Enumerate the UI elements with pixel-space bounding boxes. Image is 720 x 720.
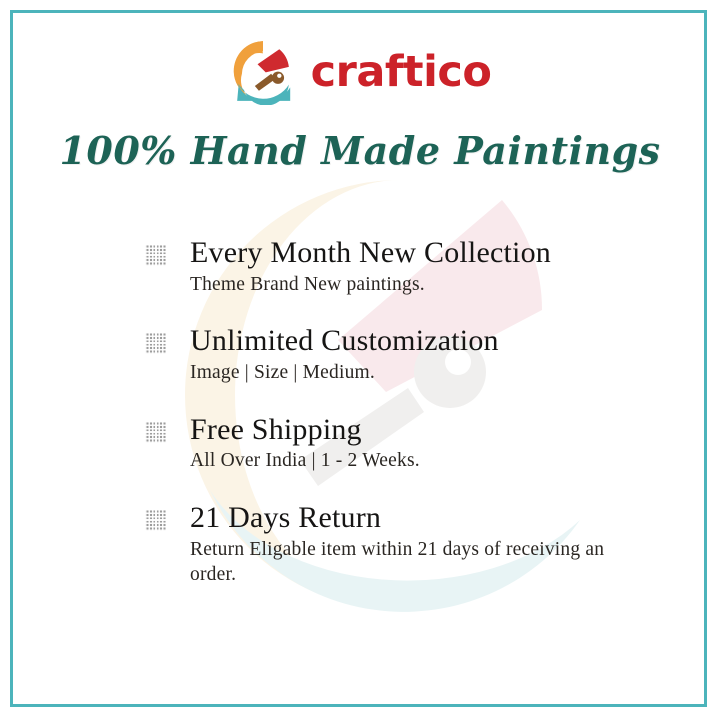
list-item: Every Month New Collection Theme Brand N…: [145, 236, 645, 297]
feature-subtitle: Theme Brand New paintings.: [190, 272, 645, 298]
promo-banner: craftico 100% Hand Made Paintings Every …: [0, 0, 720, 720]
woven-square-bullet-icon: [145, 510, 166, 531]
woven-square-bullet-icon: [145, 422, 166, 443]
feature-title: Free Shipping: [190, 413, 645, 447]
brand-wordmark: craftico: [311, 51, 492, 94]
woven-square-bullet-icon: [145, 333, 166, 354]
feature-subtitle: Image | Size | Medium.: [190, 360, 645, 386]
list-item: Free Shipping All Over India | 1 - 2 Wee…: [145, 413, 645, 474]
list-item: Unlimited Customization Image | Size | M…: [145, 324, 645, 385]
feature-title: 21 Days Return: [190, 501, 645, 535]
brand-lockup: craftico: [0, 33, 720, 109]
feature-subtitle: Return Eligable item within 21 days of r…: [190, 537, 645, 588]
craftico-logo-icon: [229, 37, 297, 105]
list-item: 21 Days Return Return Eligable item with…: [145, 501, 645, 588]
feature-list: Every Month New Collection Theme Brand N…: [145, 236, 645, 588]
feature-title: Unlimited Customization: [190, 324, 645, 358]
feature-subtitle: All Over India | 1 - 2 Weeks.: [190, 448, 645, 474]
page-headline: 100% Hand Made Paintings: [0, 128, 720, 173]
woven-square-bullet-icon: [145, 245, 166, 266]
feature-title: Every Month New Collection: [190, 236, 645, 270]
